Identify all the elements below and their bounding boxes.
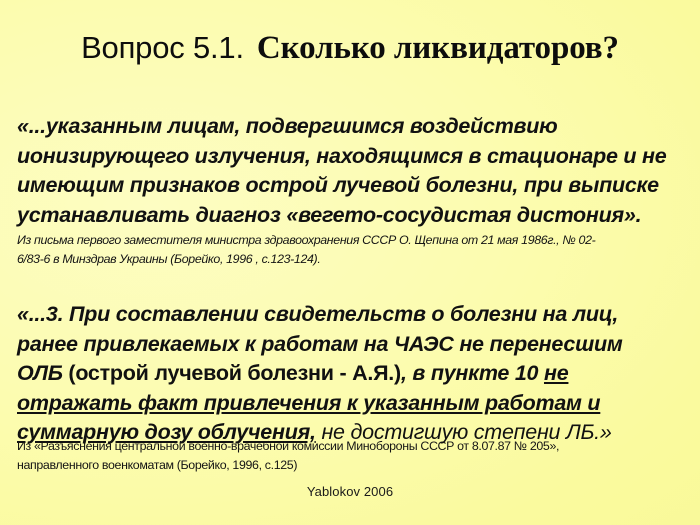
- title-question-text: Сколько ликвидаторов?: [257, 30, 619, 66]
- citation-1-line-2: 6/83-6 в Минздрав Украины (Борейко, 1996…: [17, 252, 320, 266]
- quote-2-emphasis-line-2: отражать факт привлечения к указанным ра…: [17, 391, 600, 415]
- quote-1-line-1: «...указанным лицам, подвергшимся воздей…: [17, 114, 558, 138]
- citation-2: Из «Разъяснения центральной военно-враче…: [17, 437, 690, 474]
- quote-2-emphasis-ne: не: [544, 361, 568, 385]
- quote-1-text: «...указанным лицам, подвергшимся воздей…: [17, 112, 686, 230]
- quote-2-parenthetical: (острой лучевой болезни - А.Я.): [68, 361, 401, 385]
- quote-2-line-1: «...3. При составлении свидетельств о бо…: [17, 302, 618, 326]
- citation-2-line-1: Из «Разъяснения центральной военно-враче…: [17, 439, 559, 453]
- citation-2-text: Из «Разъяснения центральной военно-враче…: [17, 437, 690, 474]
- quote-2-line-3-prefix: ОЛБ: [17, 361, 68, 385]
- title-question-number: Вопрос 5.1.: [81, 30, 244, 65]
- citation-1-line-1: Из письма первого заместителя министра з…: [17, 233, 595, 247]
- slide-canvas: Вопрос 5.1.Сколько ликвидаторов? «...ука…: [0, 0, 700, 525]
- citation-1-text: Из письма первого заместителя министра з…: [17, 231, 690, 268]
- footer-source: Yablokov 2006: [0, 484, 700, 499]
- quote-1-line-3: имеющим признаков острой лучевой болезни…: [17, 173, 659, 197]
- quote-1-line-2: ионизирующего излучения, находящимся в с…: [17, 144, 666, 168]
- citation-2-line-2: направленного военкоматам (Борейко, 1996…: [17, 458, 297, 472]
- quote-1-line-4: устанавливать диагноз «вегето-сосудистая…: [17, 203, 641, 227]
- quote-2-line-2: ранее привлекаемых к работам на ЧАЭС не …: [17, 332, 623, 356]
- quote-block-2: «...3. При составлении свидетельств о бо…: [17, 300, 686, 448]
- quote-block-1: «...указанным лицам, подвергшимся воздей…: [17, 112, 686, 230]
- quote-2-text: «...3. При составлении свидетельств о бо…: [17, 300, 686, 448]
- quote-2-line-3-suffix: , в пункте 10: [401, 361, 544, 385]
- citation-1: Из письма первого заместителя министра з…: [17, 231, 690, 268]
- page-title: Вопрос 5.1.Сколько ликвидаторов?: [0, 30, 700, 67]
